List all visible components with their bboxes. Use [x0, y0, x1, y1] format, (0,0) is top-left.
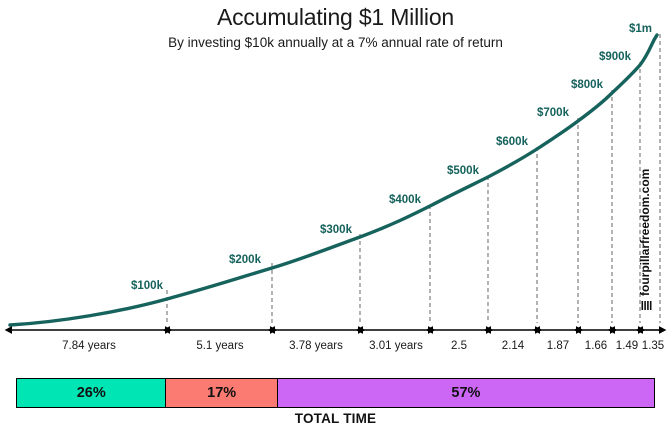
interval-label-10: 1.35	[642, 340, 664, 352]
balance-growth-curve	[10, 35, 657, 325]
interval-label-5: 2.5	[451, 340, 467, 352]
total-time-bar: 26% 17% 57%	[16, 378, 655, 408]
point-label-800k: $800k	[571, 79, 604, 91]
point-label-700k: $700k	[537, 107, 570, 119]
point-label-1m: $1m	[629, 23, 652, 35]
interval-label-8: 1.66	[585, 340, 607, 352]
point-label-900k: $900k	[599, 51, 632, 63]
interval-label-2: 5.1 years	[196, 340, 244, 352]
gridlines-group	[167, 34, 660, 323]
total-time-segment-2: 17%	[165, 379, 276, 407]
point-label-500k: $500k	[447, 165, 480, 177]
interval-label-1: 7.84 years	[62, 340, 116, 352]
point-label-300k: $300k	[320, 224, 353, 236]
total-time-segment-3: 57%	[277, 379, 654, 407]
point-label-200k: $200k	[229, 254, 262, 266]
interval-labels-group: 7.84 years 5.1 years 3.78 years 3.01 yea…	[62, 340, 664, 352]
total-time-caption: TOTAL TIME	[0, 411, 671, 426]
interval-label-6: 2.14	[502, 340, 525, 352]
interval-label-3: 3.78 years	[289, 340, 343, 352]
point-label-600k: $600k	[496, 136, 529, 148]
point-label-100k: $100k	[131, 280, 164, 292]
bars-logo-icon	[642, 301, 652, 310]
interval-label-4: 3.01 years	[369, 340, 423, 352]
watermark-group: fourpillarfreedom.com	[638, 169, 652, 310]
interval-label-9: 1.49	[616, 340, 638, 352]
chart-plot-area: $100k $200k $300k $400k $500k $600k $700…	[0, 0, 671, 437]
interval-label-7: 1.87	[547, 340, 569, 352]
total-time-segment-1: 26%	[17, 379, 165, 407]
point-label-400k: $400k	[389, 194, 422, 206]
chart-container: Accumulating $1 Million By investing $10…	[0, 0, 671, 437]
watermark-text: fourpillarfreedom.com	[638, 169, 652, 296]
point-labels-group: $100k $200k $300k $400k $500k $600k $700…	[131, 23, 652, 292]
